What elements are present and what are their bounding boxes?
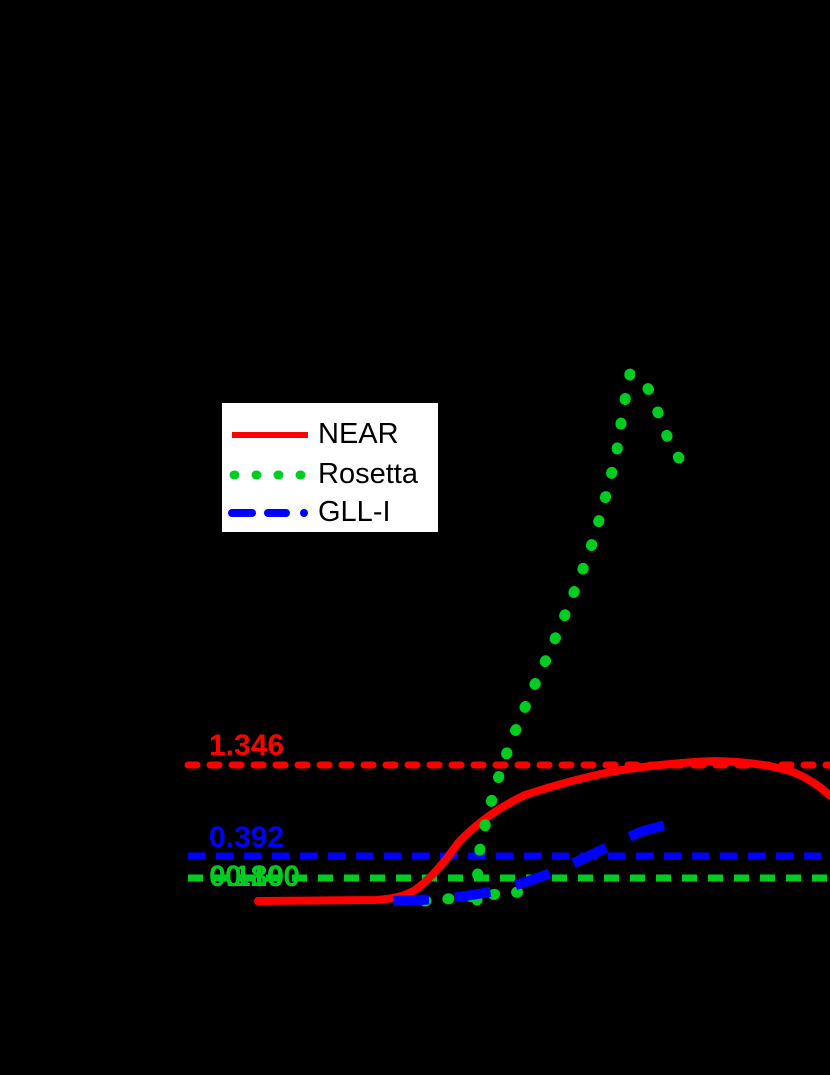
legend-label-gll-i: GLL-I bbox=[316, 498, 391, 527]
legend-swatch-gll-i-icon bbox=[224, 491, 316, 534]
figure-canvas: 1.346 0.392 0.180 0.100 NEAR Rosetta bbox=[0, 0, 830, 1075]
legend-label-near: NEAR bbox=[316, 420, 399, 449]
legend-label-rosetta: Rosetta bbox=[316, 460, 418, 489]
legend-item-near: NEAR bbox=[224, 413, 440, 456]
legend-swatch-near-icon bbox=[224, 413, 316, 456]
reference-label-near: 1.346 bbox=[209, 731, 284, 761]
reference-label-rosetta-alt: 0.100 bbox=[225, 862, 300, 892]
legend-swatch-rosetta-icon bbox=[224, 453, 316, 496]
legend-item-rosetta: Rosetta bbox=[224, 453, 440, 496]
plot-background bbox=[0, 0, 830, 1075]
chart-plot-area bbox=[0, 0, 830, 1075]
reference-label-gll-i: 0.392 bbox=[209, 823, 284, 853]
legend-item-gll-i: GLL-I bbox=[224, 491, 440, 534]
chart-legend: NEAR Rosetta GLL-I bbox=[222, 403, 438, 532]
